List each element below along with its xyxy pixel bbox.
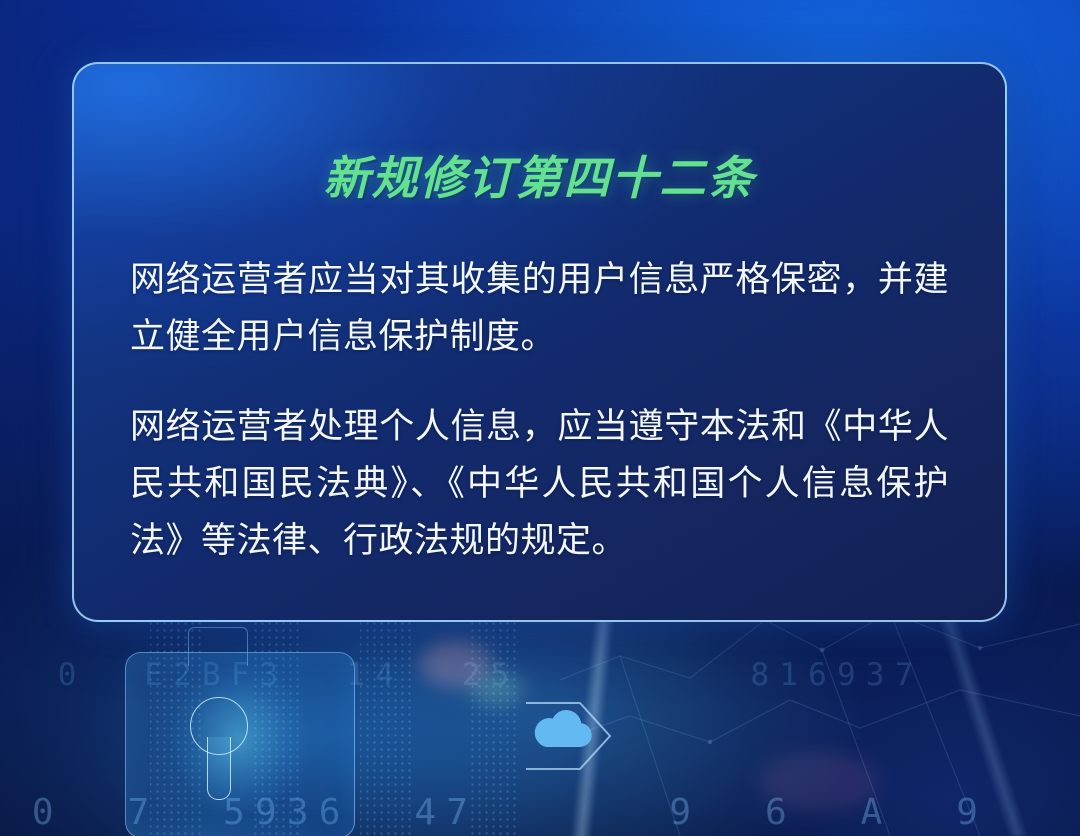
light-beam-secondary — [880, 600, 1080, 836]
page-title: 新规修订第四十二条 — [130, 142, 949, 208]
lens-flare — [470, 672, 524, 706]
article-paragraph-1: 网络运营者应当对其收集的用户信息严格保密，并建立健全用户信息保护制度。 — [130, 252, 949, 365]
content-card: 新规修订第四十二条 网络运营者应当对其收集的用户信息严格保密，并建立健全用户信息… — [72, 62, 1007, 622]
poster-canvas: 0 E2BF3 14 25 816937 0 7 5936 47 9 6 A 9… — [0, 0, 1080, 836]
keyhole-icon — [190, 697, 248, 801]
cloud-icon — [535, 710, 592, 747]
lens-flare — [760, 752, 880, 812]
article-paragraph-2: 网络运营者处理个人信息，应当遵守本法和《中华人民共和国民法典》、《中华人民共和国… — [130, 399, 949, 569]
keyhole-stem — [207, 737, 231, 800]
cloud-badge — [524, 697, 614, 775]
card-inner: 新规修订第四十二条 网络运营者应当对其收集的用户信息严格保密，并建立健全用户信息… — [74, 64, 1005, 620]
